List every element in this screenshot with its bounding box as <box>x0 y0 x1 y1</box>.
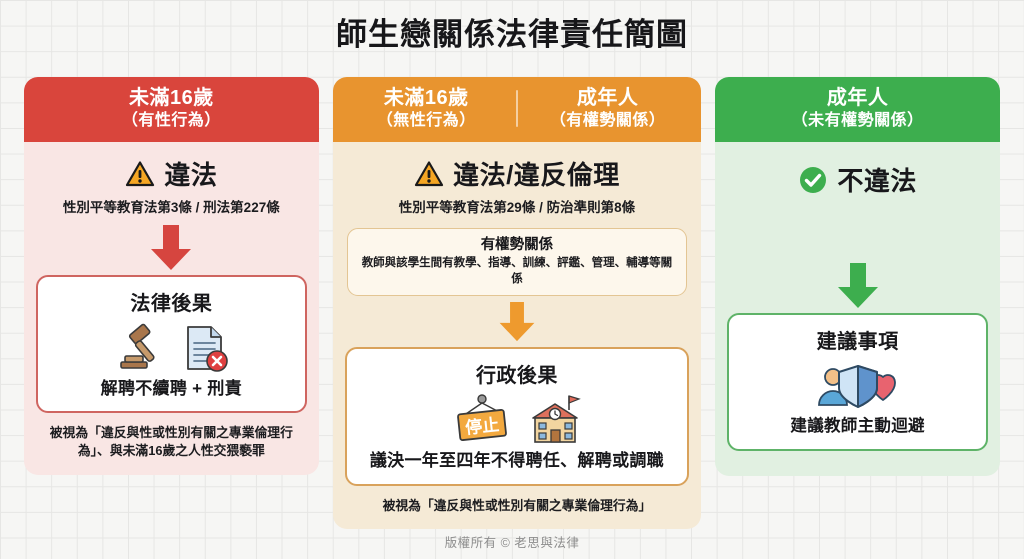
school-building-icon <box>527 394 583 446</box>
column-body-red: 違法 性別平等教育法第3條 / 刑法第227條 法律後果 <box>24 142 319 413</box>
power-relation-title: 有權勢關係 <box>357 236 677 255</box>
outcome-card-legal-consequence: 法律後果 <box>36 275 307 413</box>
gavel-icon <box>113 323 167 373</box>
verdict-row: 違法/違反倫理 <box>414 155 620 192</box>
header-segment-right: 成年人 （有權勢關係） <box>518 86 697 131</box>
down-arrow-icon <box>836 263 880 309</box>
column-adult-without-power: 成年人 （未有權勢關係） 不違法 建議事項 <box>715 77 1000 476</box>
header-sub-label: （未有權勢關係） <box>725 111 990 131</box>
header-segment: 成年人 （未有權勢關係） <box>719 86 996 131</box>
column-body-green: 不違法 建議事項 建議教師主動迴避 <box>715 142 1000 451</box>
outcome-description: 建議教師主動迴避 <box>739 416 976 437</box>
header-main-label: 成年人 <box>524 86 691 111</box>
stop-sign-label: 停止 <box>464 415 500 438</box>
outcome-description: 解聘不續聘 + 刑責 <box>48 378 295 399</box>
column-header-orange: 未滿16歲 （無性行為） 成年人 （有權勢關係） <box>333 77 702 142</box>
outcome-card-administrative-consequence: 行政後果 停止 <box>345 347 690 485</box>
law-reference: 性別平等教育法第3條 / 刑法第227條 <box>63 199 280 217</box>
header-sub-label: （有性行為） <box>34 111 309 131</box>
header-sub-label: （無性行為） <box>343 111 510 131</box>
verdict-row: 不違法 <box>798 161 917 198</box>
document-rejected-icon <box>181 323 229 373</box>
page-title: 師生戀關係法律責任簡圖 <box>0 0 1024 52</box>
warning-triangle-icon <box>414 160 444 188</box>
power-relation-box: 有權勢關係 教師與該學生間有教學、指導、訓練、評鑑、管理、輔導等關係 <box>347 228 687 297</box>
header-main-label: 未滿16歲 <box>343 86 510 111</box>
header-sub-label: （有權勢關係） <box>524 111 691 131</box>
column-note: 被視為「違反與性或性別有關之專業倫理行為」、與未滿16歲之人性交猥褻罪 <box>24 413 319 475</box>
verdict-label: 不違法 <box>837 161 917 198</box>
outcome-title: 法律後果 <box>48 287 295 316</box>
law-reference: 性別平等教育法第29條 / 防治準則第8條 <box>399 199 635 217</box>
column-note: 被視為「違反與性或性別有關之專業倫理行為」 <box>333 486 702 530</box>
verdict-label: 違法 <box>164 155 217 192</box>
header-segment: 未滿16歲 （有性行為） <box>28 86 315 131</box>
columns-container: 未滿16歲 （有性行為） 違法 性別平等教育法第3條 / 刑法第227條 法律後… <box>0 77 1024 529</box>
warning-triangle-icon <box>125 160 155 188</box>
column-under-16-no-act-and-adult-with-power: 未滿16歲 （無性行為） 成年人 （有權勢關係） 違法/違反倫理 性別平等教育法… <box>333 77 702 529</box>
header-main-label: 成年人 <box>725 86 990 111</box>
outcome-card-recommendation: 建議事項 建議教師主動迴避 <box>727 313 988 451</box>
column-header-red: 未滿16歲 （有性行為） <box>24 77 319 142</box>
verdict-label: 違法/違反倫理 <box>453 155 620 192</box>
outcome-title: 建議事項 <box>739 325 976 354</box>
header-segment-left: 未滿16歲 （無性行為） <box>337 86 516 131</box>
person-shield-heart-icon <box>813 361 903 411</box>
power-relation-description: 教師與該學生間有教學、指導、訓練、評鑑、管理、輔導等關係 <box>357 256 677 287</box>
column-note <box>715 451 1000 476</box>
outcome-icons <box>48 322 295 374</box>
down-arrow-icon <box>496 302 538 342</box>
column-header-green: 成年人 （未有權勢關係） <box>715 77 1000 142</box>
header-main-label: 未滿16歲 <box>34 86 309 111</box>
verdict-row: 違法 <box>125 155 217 192</box>
copyright-credit: 版權所有 © 老思與法律 <box>0 532 1024 551</box>
check-circle-icon <box>798 165 828 195</box>
outcome-icons: 停止 <box>357 394 678 446</box>
outcome-title: 行政後果 <box>357 359 678 388</box>
column-under-16-with-sexual-act: 未滿16歲 （有性行為） 違法 性別平等教育法第3條 / 刑法第227條 法律後… <box>24 77 319 475</box>
column-body-orange: 違法/違反倫理 性別平等教育法第29條 / 防治準則第8條 有權勢關係 教師與該… <box>333 142 702 486</box>
outcome-icons <box>739 360 976 412</box>
down-arrow-icon <box>149 225 193 271</box>
stop-sign-icon: 停止 <box>451 394 513 446</box>
outcome-description: 議決一年至四年不得聘任、解聘或調職 <box>357 450 678 471</box>
